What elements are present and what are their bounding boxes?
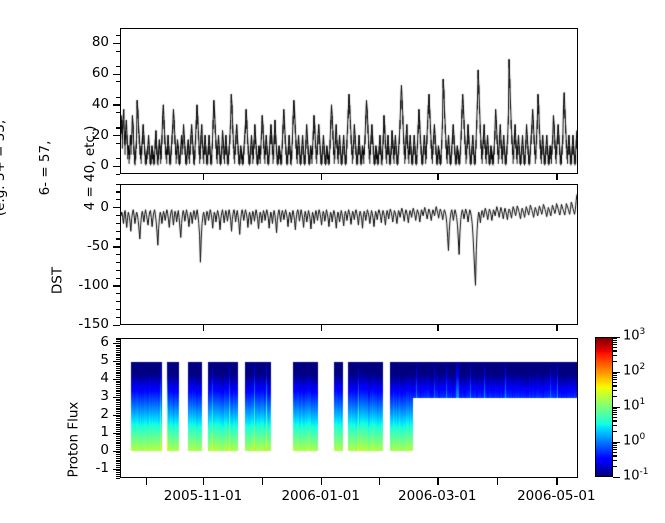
flux-ytick-minor <box>116 359 120 360</box>
colorbar-tick-minor <box>613 347 617 348</box>
flux-ytick-label: -1 <box>0 460 109 476</box>
flux-ytick-minor <box>116 418 120 419</box>
colorbar-tick-minor <box>613 344 617 345</box>
flux-ytick-minor <box>116 395 120 396</box>
dst-xtick <box>321 325 322 331</box>
flux-ytick-minor <box>116 449 120 450</box>
flux-ytick-minor <box>116 456 120 457</box>
colorbar-tick-label: 100 <box>623 432 645 448</box>
flux-ytick-minor <box>116 377 120 378</box>
kp-ytick-minor <box>116 174 120 175</box>
dst-ytick-minor <box>116 184 120 185</box>
x-tick-major <box>321 478 322 485</box>
kp-ytick-label: 0 <box>0 157 109 173</box>
colorbar-tick-minor <box>613 445 617 446</box>
colorbar-tick-minor <box>613 420 617 421</box>
kp-ytick-major <box>113 104 120 105</box>
flux-ytick-label: 2 <box>0 406 109 422</box>
dst-ytick-minor <box>116 262 120 263</box>
colorbar-tick-minor <box>613 460 617 461</box>
flux-ytick-minor <box>116 355 120 356</box>
kp-ytick-minor <box>116 97 120 98</box>
flux-ytick-minor <box>116 357 120 358</box>
dst-plot-area <box>120 184 578 325</box>
flux-ytick-minor <box>116 445 120 446</box>
flux-ytick-minor <box>116 438 120 439</box>
dst-ytick-major <box>113 285 120 286</box>
kp-ytick-major <box>113 135 120 136</box>
colorbar-tick-minor <box>613 361 617 362</box>
flux-ytick-minor <box>116 388 120 389</box>
kp-ytick-minor <box>116 112 120 113</box>
dst-xtick <box>556 325 557 331</box>
kp-ytick-minor <box>116 66 120 67</box>
x-tick-major <box>556 478 557 485</box>
colorbar-tick-minor <box>613 396 617 397</box>
flux-ytick-minor <box>116 400 120 401</box>
colorbar-tick-label: 102 <box>623 362 645 378</box>
flux-ytick-minor <box>116 382 120 383</box>
flux-ytick-minor <box>116 354 120 355</box>
flux-ytick-minor <box>116 370 120 371</box>
dst-ytick-minor <box>116 293 120 294</box>
flux-ytick-minor <box>116 443 120 444</box>
dst-xtick <box>437 325 438 331</box>
dst-ytick-minor <box>116 231 120 232</box>
flux-ytick-label: 3 <box>0 388 109 404</box>
x-tick-minor <box>497 478 498 485</box>
flux-ytick-minor <box>116 348 120 349</box>
colorbar-tick-minor <box>613 447 617 448</box>
flux-ytick-minor <box>116 413 120 414</box>
x-tick-label: 2006-03-01 <box>387 488 487 504</box>
kp-ytick-major <box>113 166 120 167</box>
flux-ytick-minor <box>116 440 120 441</box>
x-tick-label: 2006-05-01 <box>506 488 606 504</box>
flux-ytick-minor <box>116 431 120 432</box>
colorbar-tick-minor <box>613 431 617 432</box>
flux-ytick-minor <box>116 338 120 339</box>
flux-ytick-minor <box>116 386 120 387</box>
x-tick-major <box>203 478 204 485</box>
flux-ytick-minor <box>116 406 120 407</box>
flux-ytick-label: 5 <box>0 352 109 368</box>
colorbar-tick-minor <box>613 452 617 453</box>
flux-ytick-minor <box>116 465 120 466</box>
flux-ytick-minor <box>116 372 120 373</box>
x-tick-label: 2005-11-01 <box>153 488 253 504</box>
flux-ytick-minor <box>116 416 120 417</box>
flux-ytick-minor <box>116 375 120 376</box>
flux-ytick-minor <box>116 424 120 425</box>
flux-ytick-minor <box>116 366 120 367</box>
flux-ytick-minor <box>116 425 120 426</box>
colorbar-tick-minor <box>613 417 617 418</box>
x-tick-major <box>437 478 438 485</box>
flux-ytick-minor <box>116 458 120 459</box>
dst-ytick-minor <box>116 278 120 279</box>
kp-ytick-label: 20 <box>0 127 109 143</box>
flux-ytick-minor <box>116 391 120 392</box>
x-tick-minor <box>146 478 147 485</box>
kp-ytick-minor <box>116 127 120 128</box>
flux-ytick-minor <box>116 339 120 340</box>
flux-ytick-minor <box>116 442 120 443</box>
colorbar-tick-minor <box>613 373 617 374</box>
colorbar-tick-minor <box>613 466 617 467</box>
kp-xtick <box>321 174 322 180</box>
kp-ytick-minor <box>116 81 120 82</box>
kp-ytick-label: 80 <box>0 34 109 50</box>
colorbar-tick-minor <box>613 414 617 415</box>
kp-ytick-label: 60 <box>0 65 109 81</box>
colorbar-tick-minor <box>613 342 617 343</box>
kp-ytick-minor <box>116 35 120 36</box>
flux-ytick-minor <box>116 402 120 403</box>
colorbar-tick-major <box>613 477 620 478</box>
colorbar-tick-minor <box>613 385 617 386</box>
flux-ytick-minor <box>116 404 120 405</box>
x-tick-minor <box>262 478 263 485</box>
colorbar-tick-label: 101 <box>623 397 645 413</box>
kp-ytick-minor <box>116 158 120 159</box>
kp-ytick-major <box>113 74 120 75</box>
flux-ytick-minor <box>116 368 120 369</box>
dst-ytick-major <box>113 246 120 247</box>
kp-ytick-label: 40 <box>0 96 109 112</box>
flux-ytick-minor <box>116 476 120 477</box>
dst-ytick-label: 0 <box>0 199 109 215</box>
colorbar-tick-minor <box>613 443 617 444</box>
flux-ytick-minor <box>116 478 120 479</box>
dst-ytick-minor <box>116 199 120 200</box>
kp-plot-area <box>120 28 578 174</box>
flux-ytick-minor <box>116 472 120 473</box>
flux-ytick-minor <box>116 467 120 468</box>
dst-ytick-minor <box>116 301 120 302</box>
colorbar-tick-minor <box>613 425 617 426</box>
colorbar-tick-minor <box>613 390 617 391</box>
flux-ytick-minor <box>116 463 120 464</box>
flux-ytick-minor <box>116 384 120 385</box>
colorbar-tick-minor <box>613 412 617 413</box>
flux-ytick-minor <box>116 409 120 410</box>
dst-ytick-minor <box>116 270 120 271</box>
dst-ytick-minor <box>116 254 120 255</box>
colorbar-tick-minor <box>613 455 617 456</box>
flux-ytick-label: 6 <box>0 334 109 350</box>
flux-ytick-minor <box>116 393 120 394</box>
kp-ytick-minor <box>116 51 120 52</box>
flux-ytick-minor <box>116 363 120 364</box>
flux-ytick-minor <box>116 470 120 471</box>
flux-ytick-minor <box>116 422 120 423</box>
colorbar-tick-minor <box>613 350 617 351</box>
kp-xtick <box>203 174 204 180</box>
flux-ytick-minor <box>116 341 120 342</box>
colorbar <box>595 337 613 477</box>
flux-ytick-minor <box>116 381 120 382</box>
flux-ytick-minor <box>116 390 120 391</box>
kp-ytick-major <box>113 43 120 44</box>
flux-ytick-minor <box>116 474 120 475</box>
flux-ytick-label: 1 <box>0 424 109 440</box>
colorbar-tick-minor <box>613 355 617 356</box>
flux-plot-area <box>120 338 578 478</box>
colorbar-tick-minor <box>613 375 617 376</box>
x-tick-minor <box>379 478 380 485</box>
dst-ytick-minor <box>116 215 120 216</box>
dst-ytick-label: -100 <box>0 277 109 293</box>
colorbar-tick-minor <box>613 410 617 411</box>
flux-ytick-minor <box>116 454 120 455</box>
figure-canvas: Kp (e.g. 3+ = 33, 6- = 57, 4 = 40, etc.)… <box>0 0 665 523</box>
flux-ytick-minor <box>116 408 120 409</box>
flux-ytick-minor <box>116 434 120 435</box>
flux-ytick-minor <box>116 352 120 353</box>
colorbar-tick-minor <box>613 408 617 409</box>
flux-ytick-minor <box>116 411 120 412</box>
kp-xtick <box>556 174 557 180</box>
dst-ytick-minor <box>116 309 120 310</box>
flux-ytick-minor <box>116 447 120 448</box>
x-tick-label: 2006-01-01 <box>271 488 371 504</box>
colorbar-tick-minor <box>613 379 617 380</box>
flux-ytick-minor <box>116 420 120 421</box>
flux-ytick-minor <box>116 364 120 365</box>
flux-ytick-label: 0 <box>0 442 109 458</box>
flux-ytick-label: 4 <box>0 370 109 386</box>
colorbar-tick-minor <box>613 382 617 383</box>
dst-ytick-major <box>113 325 120 326</box>
flux-ytick-minor <box>116 460 120 461</box>
kp-xtick <box>437 174 438 180</box>
flux-ytick-minor <box>116 429 120 430</box>
dst-ytick-major <box>113 207 120 208</box>
flux-ytick-minor <box>116 427 120 428</box>
dst-ytick-minor <box>116 191 120 192</box>
flux-ytick-minor <box>116 346 120 347</box>
colorbar-tick-minor <box>613 340 617 341</box>
dst-ytick-minor <box>116 317 120 318</box>
colorbar-tick-minor <box>613 449 617 450</box>
kp-ytick-minor <box>116 143 120 144</box>
colorbar-tick-label: 10-1 <box>623 467 649 483</box>
colorbar-tick-minor <box>613 338 617 339</box>
dst-xtick <box>203 325 204 331</box>
flux-ytick-minor <box>116 373 120 374</box>
dst-ytick-label: -150 <box>0 316 109 332</box>
colorbar-tick-minor <box>613 377 617 378</box>
dst-ytick-minor <box>116 238 120 239</box>
flux-ytick-minor <box>116 345 120 346</box>
flux-ytick-minor <box>116 436 120 437</box>
dst-ytick-label: -50 <box>0 238 109 254</box>
dst-ytick-minor <box>116 223 120 224</box>
colorbar-tick-label: 103 <box>623 327 645 343</box>
flux-ytick-minor <box>116 350 120 351</box>
flux-ytick-minor <box>116 399 120 400</box>
flux-ytick-minor <box>116 461 120 462</box>
flux-ytick-minor <box>116 452 120 453</box>
